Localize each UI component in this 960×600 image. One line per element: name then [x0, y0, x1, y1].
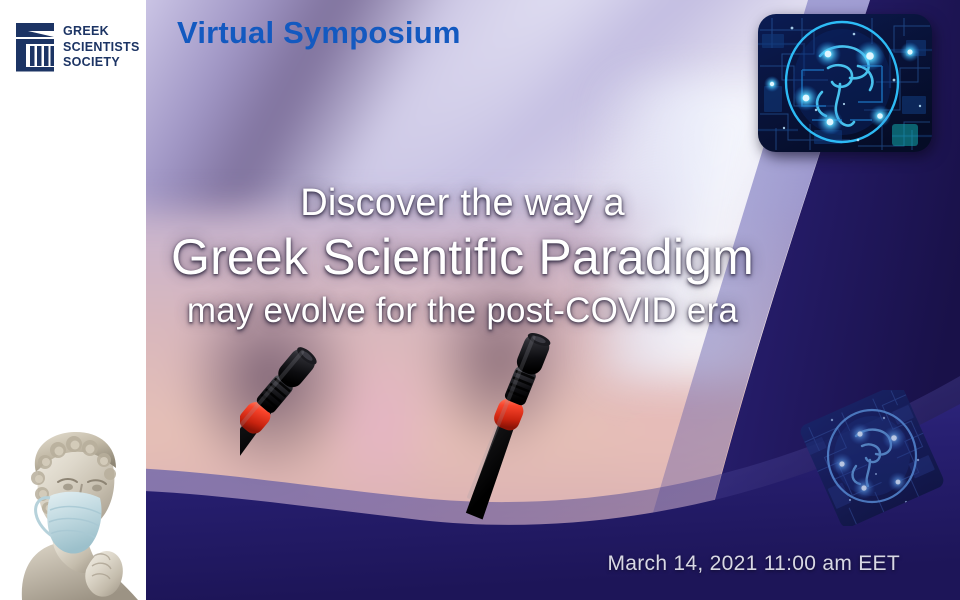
microphone-right [457, 330, 555, 519]
logo-line-society: SOCIETY [63, 56, 140, 69]
headline-block: Discover the way a Greek Scientific Para… [0, 180, 925, 334]
event-date-time: March 14, 2021 11:00 am EET [607, 552, 900, 576]
ai-brain-circuit-image-top [754, 10, 936, 156]
greek-scientists-society-logo[interactable]: GREEK SCIENTISTS SOCIETY [14, 14, 136, 80]
headline-line-2: Greek Scientific Paradigm [0, 226, 925, 288]
logo-wordmark: GREEK SCIENTISTS SOCIETY [63, 25, 140, 69]
greek-temple-icon [14, 21, 56, 73]
symposium-banner: GREEK SCIENTISTS SOCIETY Virtual Symposi… [0, 0, 960, 600]
ai-brain-circuit-image-bottom [798, 390, 946, 526]
david-statue-with-mask [0, 428, 180, 600]
logo-line-scientists: SCIENTISTS [63, 41, 140, 54]
event-type-title: Virtual Symposium [177, 14, 461, 53]
headline-line-1: Discover the way a [0, 180, 925, 226]
microphone-left [240, 344, 323, 503]
conference-microphones [240, 330, 690, 580]
headline-line-3: may evolve for the post-COVID era [0, 288, 925, 334]
logo-line-greek: GREEK [63, 25, 140, 38]
